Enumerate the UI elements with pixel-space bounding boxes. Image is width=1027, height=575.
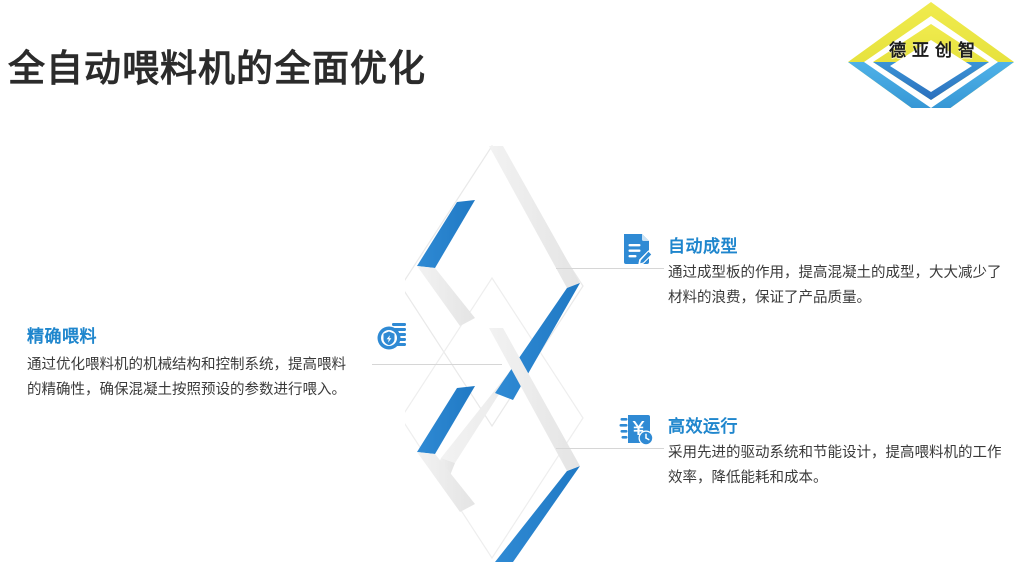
feature-title-precise-feeding: 精确喂料: [27, 322, 357, 347]
feature-body-automatic-forming: 通过成型板的作用，提高混凝土的成型，大大减少了材料的浪费，保证了产品质量。: [668, 261, 1010, 311]
document-edit-icon: [619, 232, 655, 268]
connector-line-bottom-right: [556, 448, 664, 449]
feature-block-automatic-forming: 自动成型 通过成型板的作用，提高混凝土的成型，大大减少了材料的浪费，保证了产品质…: [668, 232, 1010, 311]
coins-shield-icon: [375, 320, 411, 356]
connector-line-left: [372, 364, 502, 365]
feature-body-precise-feeding: 通过优化喂料机的机械结构和控制系统，提高喂料的精确性，确保混凝土按照预设的参数进…: [27, 353, 357, 403]
feature-title-automatic-forming: 自动成型: [668, 232, 1010, 257]
central-ribbon-graphic: [405, 138, 635, 563]
brand-logo-text: 德亚创智: [854, 36, 1010, 61]
feature-block-efficient-operation: 高效运行 采用先进的驱动系统和节能设计，提高喂料机的工作效率，降低能耗和成本。: [668, 412, 1010, 491]
feature-body-efficient-operation: 采用先进的驱动系统和节能设计，提高喂料机的工作效率，降低能耗和成本。: [668, 441, 1010, 491]
page-title: 全自动喂料机的全面优化: [8, 38, 426, 92]
feature-block-precise-feeding: 精确喂料 通过优化喂料机的机械结构和控制系统，提高喂料的精确性，确保混凝土按照预…: [27, 322, 357, 403]
notebook-yen-clock-icon: [619, 412, 655, 448]
feature-title-efficient-operation: 高效运行: [668, 412, 1010, 437]
connector-line-top-right: [556, 268, 664, 269]
